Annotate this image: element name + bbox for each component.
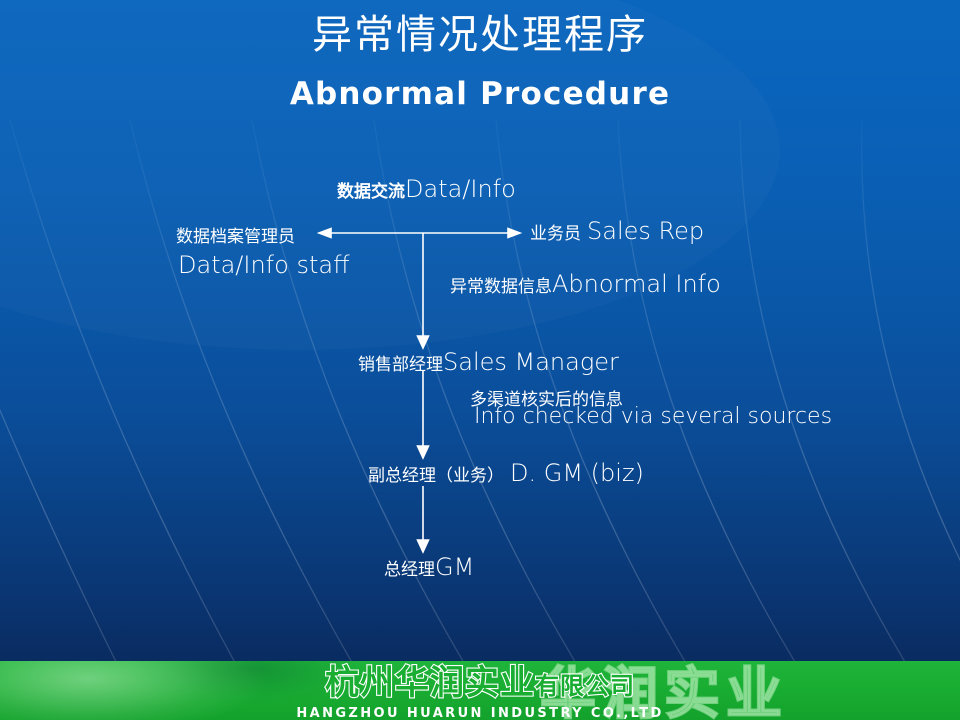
arrowhead-left-staff <box>319 229 331 238</box>
node-sales-manager-en: Sales Manager <box>443 348 619 376</box>
company-footer-banner: 华润实业 杭州华润实业有限公司 HANGZHOU HUARUN INDUSTRY… <box>0 661 960 720</box>
node-data-info-staff-cn: 数据档案管理员 <box>176 222 295 247</box>
node-deputy-gm-biz: 副总经理（业务）D. GM (biz) <box>368 459 644 487</box>
edge-label-abnormal-info-cn: 异常数据信息 <box>450 277 552 297</box>
node-general-manager-cn: 总经理 <box>384 560 435 580</box>
node-deputy-gm-biz-cn: 副总经理（业务） <box>368 466 504 486</box>
arrowhead-to-gm <box>418 540 429 552</box>
arrowhead-to-sales-manager <box>418 336 429 348</box>
node-data-info-staff-en: Data/Info staff <box>178 251 350 279</box>
presentation-slide: 异常情况处理程序 Abnormal Procedure 数据交流Data/Inf… <box>0 0 960 720</box>
arrowhead-to-deputy-gm <box>418 446 429 458</box>
company-name-cn: 杭州华润实业有限公司 <box>0 664 960 705</box>
edge-label-info-checked-en: Info checked via several sources <box>474 404 832 429</box>
company-name-cn-main: 杭州华润实业 <box>325 663 535 703</box>
edge-label-abnormal-info-en: Abnormal Info <box>552 270 721 298</box>
node-sales-rep: 业务员Sales Rep <box>530 217 704 245</box>
node-sales-rep-cn: 业务员 <box>530 224 581 244</box>
company-name-en: HANGZHOU HUARUN INDUSTRY CO.,LTD <box>0 705 960 720</box>
edge-label-data-exchange: 数据交流Data/Info <box>337 175 516 203</box>
node-general-manager-en: GM <box>435 553 474 581</box>
edge-label-abnormal-info: 异常数据信息Abnormal Info <box>450 270 721 298</box>
edge-label-data-exchange-cn: 数据交流 <box>337 182 405 202</box>
company-name-cn-suffix: 有限公司 <box>535 672 635 700</box>
footer-logo-text-block: 杭州华润实业有限公司 HANGZHOU HUARUN INDUSTRY CO.,… <box>0 664 960 720</box>
node-general-manager: 总经理GM <box>384 553 474 581</box>
node-sales-rep-en: Sales Rep <box>581 217 704 245</box>
page-title-cn: 异常情况处理程序 <box>0 9 960 61</box>
page-title-en: Abnormal Procedure <box>0 73 960 115</box>
edge-label-data-exchange-en: Data/Info <box>405 175 516 203</box>
arrowhead-right-rep <box>508 229 520 238</box>
node-deputy-gm-biz-en: D. GM (biz) <box>504 459 644 487</box>
node-sales-manager: 销售部经理Sales Manager <box>358 348 619 376</box>
node-sales-manager-cn: 销售部经理 <box>358 355 443 375</box>
